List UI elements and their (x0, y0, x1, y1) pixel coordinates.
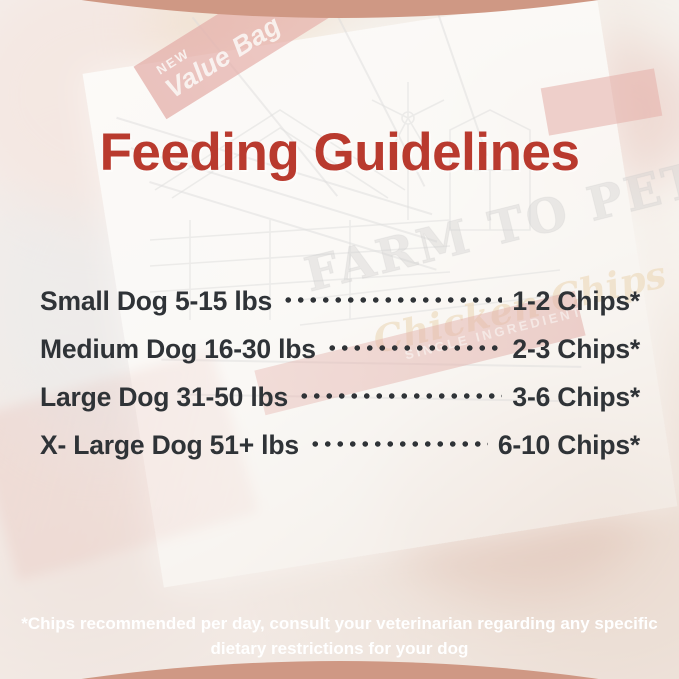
row-value-small-dog: 1-2 Chips* (512, 286, 640, 317)
row-value-large-dog: 3-6 Chips* (512, 382, 640, 413)
poster-content: Feeding Guidelines Small Dog 5-15 lbs 1-… (0, 0, 679, 679)
dot-leader-icon (326, 331, 503, 358)
dot-leader-icon (282, 283, 502, 310)
table-row: Medium Dog 16-30 lbs 2-3 Chips* (40, 331, 640, 379)
feeding-guidelines-poster: NEW Value Bag FARM TO PET Chicken Chips … (0, 0, 679, 679)
table-row: X- Large Dog 51+ lbs 6-10 Chips* (40, 427, 640, 475)
table-row: Small Dog 5-15 lbs 1-2 Chips* (40, 283, 640, 331)
dot-leader-icon (309, 427, 488, 454)
row-label-xlarge-dog: X- Large Dog 51+ lbs (40, 430, 299, 461)
dot-leader-icon (298, 379, 502, 406)
feeding-guidelines-table: Small Dog 5-15 lbs 1-2 Chips* Medium Dog… (40, 283, 640, 475)
footer-line-1: *Chips recommended per day, consult your… (0, 611, 679, 636)
row-value-medium-dog: 2-3 Chips* (512, 334, 640, 365)
row-label-large-dog: Large Dog 31-50 lbs (40, 382, 288, 413)
row-value-xlarge-dog: 6-10 Chips* (498, 430, 640, 461)
page-title: Feeding Guidelines (0, 122, 679, 183)
footer-disclaimer: *Chips recommended per day, consult your… (0, 595, 679, 679)
row-label-medium-dog: Medium Dog 16-30 lbs (40, 334, 316, 365)
row-label-small-dog: Small Dog 5-15 lbs (40, 286, 272, 317)
footer-line-2: dietary restrictions for your dog (0, 636, 679, 661)
table-row: Large Dog 31-50 lbs 3-6 Chips* (40, 379, 640, 427)
